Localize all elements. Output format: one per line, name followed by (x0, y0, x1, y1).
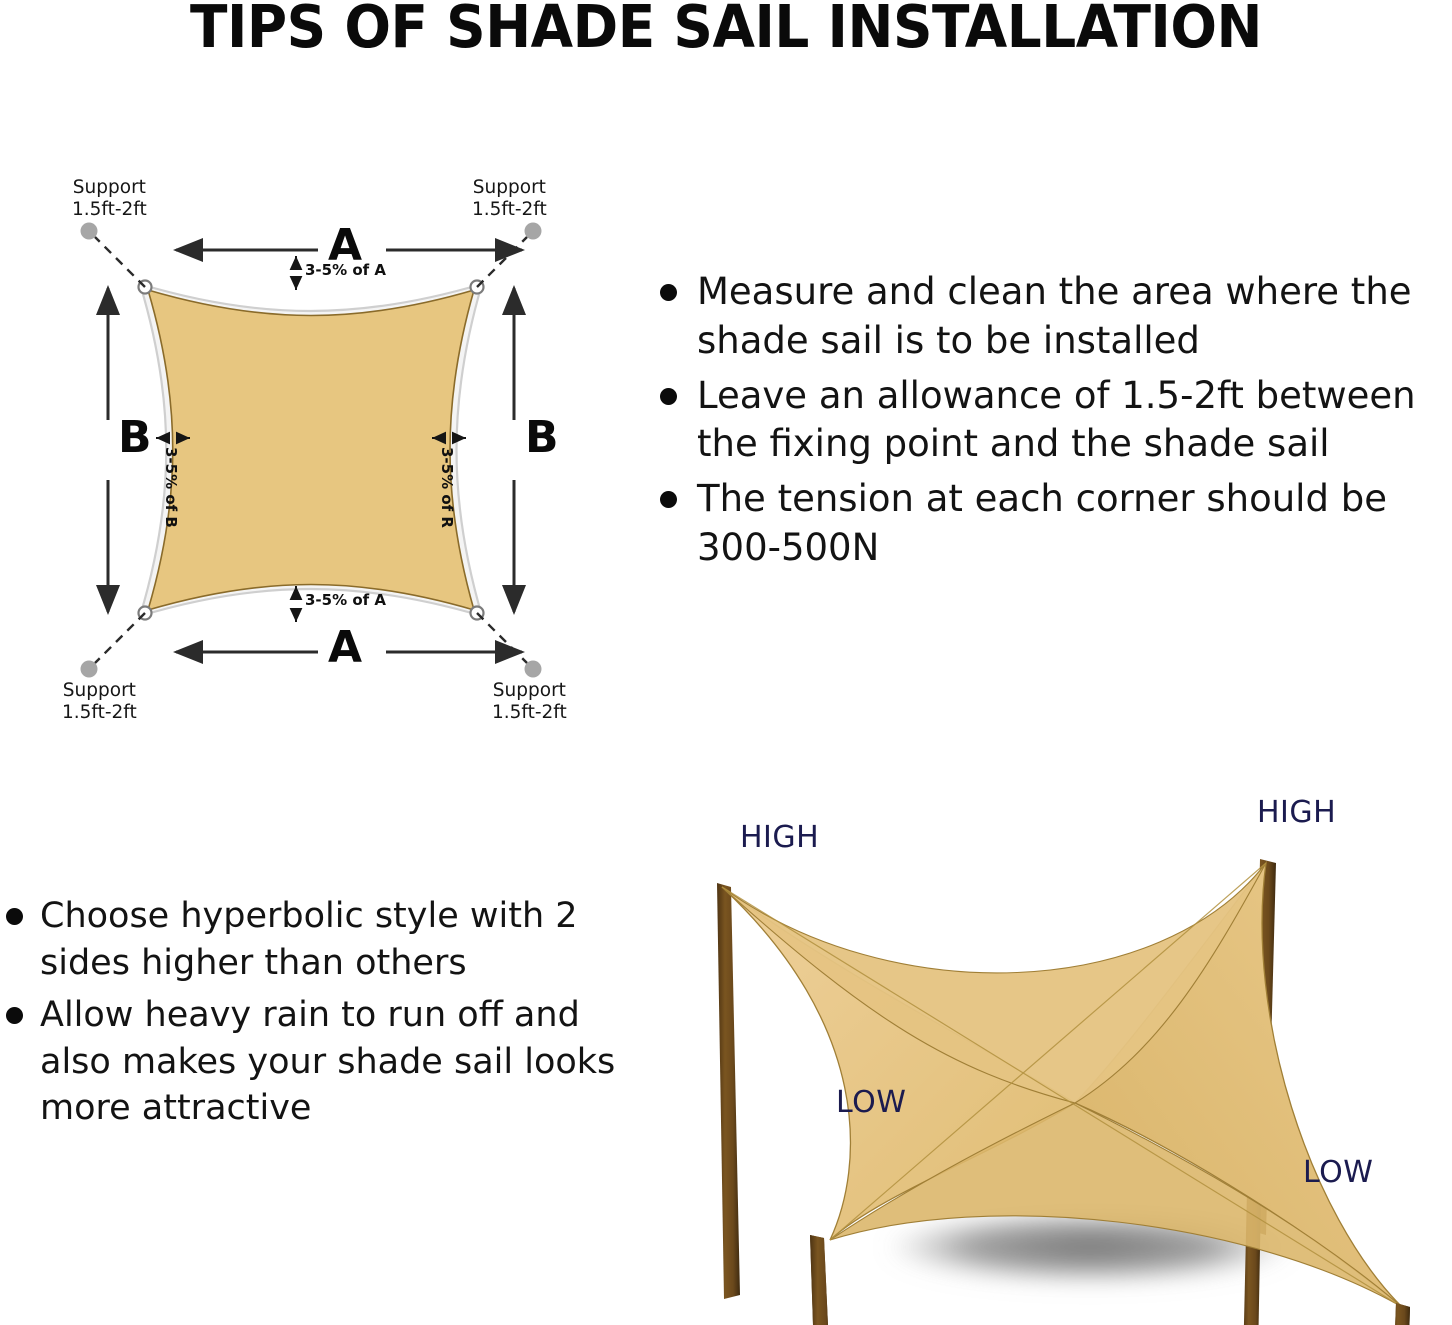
support-label-line2: 1.5ft-2ft (492, 702, 567, 724)
square-shade-sail-dimension-diagram: A A B B 3-5% of A 3-5% of A 3-5% of B 3-… (30, 150, 630, 750)
support-label-line1: Support (72, 177, 147, 199)
curve-label-right: 3-5% of R (439, 447, 454, 528)
support-label-top-left: Support 1.5ft-2ft (72, 177, 147, 221)
tip-text: Measure and clean the area where the sha… (697, 268, 1450, 366)
list-item: Allow heavy rain to run off and also mak… (6, 992, 636, 1132)
label-low-front-right: LOW (1303, 1155, 1373, 1190)
installation-tips-list-top: Measure and clean the area where the sha… (660, 268, 1450, 579)
anchor-bottom-right (525, 661, 542, 678)
bullet-dot-icon (660, 284, 677, 301)
post-low-front-left-top (810, 1235, 832, 1325)
support-label-bottom-left: Support 1.5ft-2ft (62, 680, 137, 724)
curve-label-top: 3-5% of A (305, 263, 386, 278)
attachment-line-bottom-left (95, 613, 145, 663)
tip-text: Leave an allowance of 1.5-2ft between th… (697, 372, 1450, 470)
attachment-line-top-left (95, 237, 145, 287)
anchor-top-left (81, 223, 98, 240)
bullet-dot-icon (6, 1007, 23, 1024)
attachment-line-bottom-right (477, 613, 527, 663)
attachment-line-top-right (477, 237, 527, 287)
support-label-line1: Support (472, 177, 547, 199)
label-low-front-left: LOW (836, 1085, 906, 1120)
sail-body (148, 290, 474, 610)
support-label-line2: 1.5ft-2ft (472, 199, 547, 221)
post-high-back-left (717, 883, 740, 1299)
support-label-line2: 1.5ft-2ft (72, 199, 147, 221)
anchor-bottom-left (81, 661, 98, 678)
tip-text: The tension at each corner should be 300… (697, 475, 1450, 573)
dimension-letter-left: B (118, 416, 152, 460)
bullet-dot-icon (6, 908, 23, 925)
post-low-front-right-top (1391, 1303, 1410, 1325)
support-label-line1: Support (62, 680, 137, 702)
bullet-dot-icon (660, 491, 677, 508)
page-title: TIPS OF SHADE SAIL INSTALLATION (51, 0, 1401, 61)
support-label-top-right: Support 1.5ft-2ft (472, 177, 547, 221)
installation-tips-list-bottom: Choose hyperbolic style with 2 sides hig… (6, 893, 636, 1138)
dimension-letter-bottom: A (328, 626, 362, 670)
hypar-sail-graphic (690, 795, 1452, 1325)
tip-text: Choose hyperbolic style with 2 sides hig… (40, 893, 636, 986)
support-label-line2: 1.5ft-2ft (62, 702, 137, 724)
label-high-back-right: HIGH (1257, 795, 1336, 830)
tip-text: Allow heavy rain to run off and also mak… (40, 992, 636, 1132)
curve-label-bottom: 3-5% of A (305, 593, 386, 608)
anchor-top-right (525, 223, 542, 240)
curve-label-left: 3-5% of B (163, 447, 178, 528)
hyperbolic-shade-sail-illustration: HIGH HIGH LOW LOW (690, 795, 1452, 1325)
support-label-line1: Support (492, 680, 567, 702)
list-item: Choose hyperbolic style with 2 sides hig… (6, 893, 636, 986)
bullet-dot-icon (660, 388, 677, 405)
list-item: Leave an allowance of 1.5-2ft between th… (660, 372, 1450, 470)
list-item: The tension at each corner should be 300… (660, 475, 1450, 573)
support-label-bottom-right: Support 1.5ft-2ft (492, 680, 567, 724)
list-item: Measure and clean the area where the sha… (660, 268, 1450, 366)
label-high-back-left: HIGH (740, 820, 819, 855)
dimension-letter-right: B (525, 416, 559, 460)
